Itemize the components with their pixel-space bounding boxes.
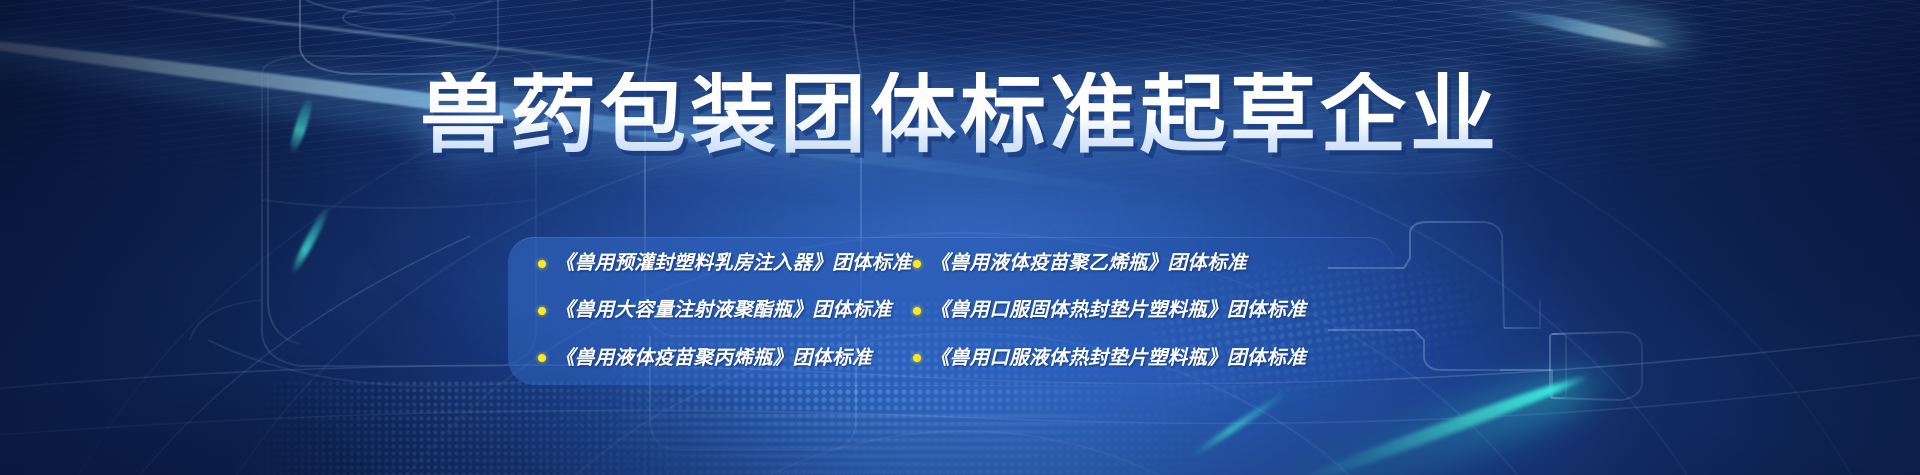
list-item[interactable]: 《兽用大容量注射液聚酯瓶》团体标准 [508, 301, 903, 321]
list-item[interactable]: 《兽用液体疫苗聚丙烯瓶》团体标准 [508, 349, 903, 369]
bullet-dot-icon [913, 354, 921, 362]
bullet-dot-icon [538, 307, 546, 315]
standard-label: 《兽用液体疫苗聚乙烯瓶》团体标准 [930, 254, 1247, 274]
banner-title: 兽药包装团体标准起草企业 [0, 72, 1920, 158]
promo-banner: 兽药包装团体标准起草企业 《兽用预灌封塑料乳房注入器》团体标准 《兽用液体疫苗聚… [0, 0, 1920, 475]
list-item[interactable]: 《兽用预灌封塑料乳房注入器》团体标准 [508, 254, 903, 274]
standard-label: 《兽用预灌封塑料乳房注入器》团体标准 [555, 254, 911, 274]
standard-label: 《兽用口服固体热封垫片塑料瓶》团体标准 [930, 301, 1306, 321]
list-item[interactable]: 《兽用液体疫苗聚乙烯瓶》团体标准 [903, 254, 1408, 274]
bullet-dot-icon [913, 260, 921, 268]
bullet-dot-icon [538, 260, 546, 268]
bullet-dot-icon [913, 307, 921, 315]
standard-label: 《兽用液体疫苗聚丙烯瓶》团体标准 [555, 349, 872, 369]
list-item[interactable]: 《兽用口服液体热封垫片塑料瓶》团体标准 [903, 349, 1408, 369]
standards-list: 《兽用预灌封塑料乳房注入器》团体标准 《兽用液体疫苗聚乙烯瓶》团体标准 《兽用大… [508, 240, 1408, 382]
standard-label: 《兽用大容量注射液聚酯瓶》团体标准 [555, 301, 892, 321]
bullet-dot-icon [538, 354, 546, 362]
standard-label: 《兽用口服液体热封垫片塑料瓶》团体标准 [930, 349, 1306, 369]
list-item[interactable]: 《兽用口服固体热封垫片塑料瓶》团体标准 [903, 301, 1408, 321]
